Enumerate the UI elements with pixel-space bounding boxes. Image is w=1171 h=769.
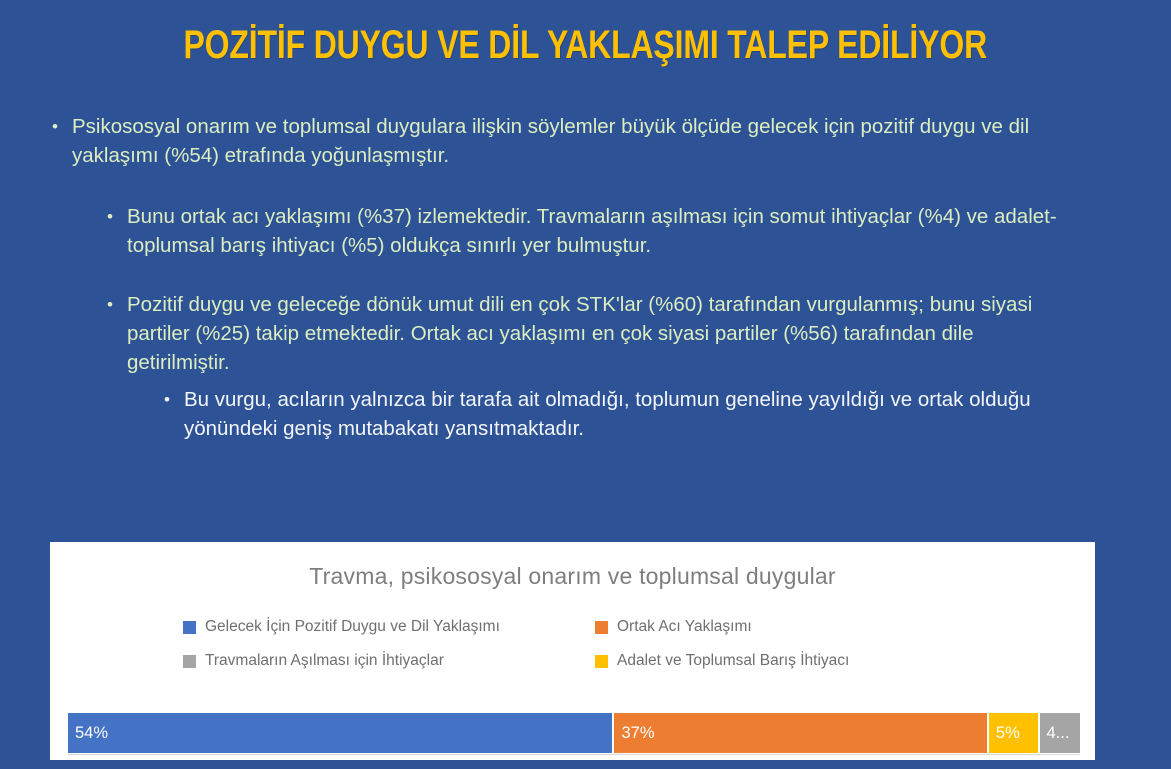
spacer [52, 260, 1122, 290]
bar-segment-orange[interactable]: 37% [614, 713, 988, 753]
spacer [52, 170, 1122, 202]
bar-segment-label: 37% [621, 723, 654, 743]
legend-label: Adalet ve Toplumsal Barış İhtiyacı [617, 652, 849, 670]
chart-title: Travma, psikososyal onarım ve toplumsal … [50, 542, 1095, 590]
spacer [52, 377, 1122, 385]
bullet-text: Psikososyal onarım ve toplumsal duygular… [72, 112, 1077, 170]
legend-item-travmalarin-asilmasi[interactable]: Travmaların Aşılması için İhtiyaçlar [183, 652, 595, 670]
legend-row-1: Gelecek İçin Pozitif Duygu ve Dil Yaklaş… [183, 610, 1055, 644]
title-block: POZİTİF DUYGU VE DİL YAKLAŞIMI TALEP EDİ… [0, 22, 1171, 68]
bullet-marker-icon: • [107, 290, 127, 319]
bullet-level1-1: • Psikososyal onarım ve toplumsal duygul… [52, 112, 1077, 170]
legend-item-ortak-aci-yaklasimi[interactable]: Ortak Acı Yaklaşımı [595, 618, 752, 636]
legend-swatch-blue-icon [183, 621, 196, 634]
legend-row-2: Travmaların Aşılması için İhtiyaçlar Ada… [183, 644, 1055, 678]
bar-segment-label: 54% [75, 723, 108, 743]
bullet-marker-icon: • [52, 112, 72, 141]
bullet-level3-1: • Bu vurgu, acıların yalnızca bir tarafa… [164, 385, 1064, 443]
bullet-text: Bunu ortak acı yaklaşımı (%37) izlemekte… [127, 202, 1067, 260]
bullet-marker-icon: • [164, 385, 184, 414]
body-content: • Psikososyal onarım ve toplumsal duygul… [52, 112, 1122, 443]
slide-canvas: POZİTİF DUYGU VE DİL YAKLAŞIMI TALEP EDİ… [0, 0, 1171, 769]
legend-label: Ortak Acı Yaklaşımı [617, 618, 752, 636]
stacked-bar[interactable]: 54% 37% 5% 4... [68, 713, 1080, 753]
bar-segment-yellow[interactable]: 5% [989, 713, 1040, 753]
chart-baseline [68, 754, 1080, 755]
legend-swatch-orange-icon [595, 621, 608, 634]
bar-segment-label: 5% [996, 723, 1020, 743]
bar-segment-blue[interactable]: 54% [68, 713, 614, 753]
bar-segment-label: 4... [1047, 723, 1070, 743]
bullet-marker-icon: • [107, 202, 127, 231]
stacked-bar-track: 54% 37% 5% 4... [68, 713, 1080, 753]
legend-item-gelecek-icin-pozitif-duygu[interactable]: Gelecek İçin Pozitif Duygu ve Dil Yaklaş… [183, 618, 595, 636]
chart-panel[interactable]: Travma, psikososyal onarım ve toplumsal … [50, 542, 1095, 760]
chart-legend: Gelecek İçin Pozitif Duygu ve Dil Yaklaş… [50, 610, 1095, 678]
bullet-text: Bu vurgu, acıların yalnızca bir tarafa a… [184, 385, 1064, 443]
bullet-level2-2: • Pozitif duygu ve geleceğe dönük umut d… [107, 290, 1067, 377]
legend-swatch-gray-icon [183, 655, 196, 668]
legend-label: Travmaların Aşılması için İhtiyaçlar [205, 652, 444, 670]
page-title: POZİTİF DUYGU VE DİL YAKLAŞIMI TALEP EDİ… [184, 22, 988, 68]
bar-segment-gray[interactable]: 4... [1040, 713, 1080, 753]
legend-item-adalet-ve-toplumsal-baris[interactable]: Adalet ve Toplumsal Barış İhtiyacı [595, 652, 849, 670]
legend-swatch-yellow-icon [595, 655, 608, 668]
legend-label: Gelecek İçin Pozitif Duygu ve Dil Yaklaş… [205, 618, 500, 636]
bullet-level2-1: • Bunu ortak acı yaklaşımı (%37) izlemek… [107, 202, 1067, 260]
bullet-text: Pozitif duygu ve geleceğe dönük umut dil… [127, 290, 1067, 377]
